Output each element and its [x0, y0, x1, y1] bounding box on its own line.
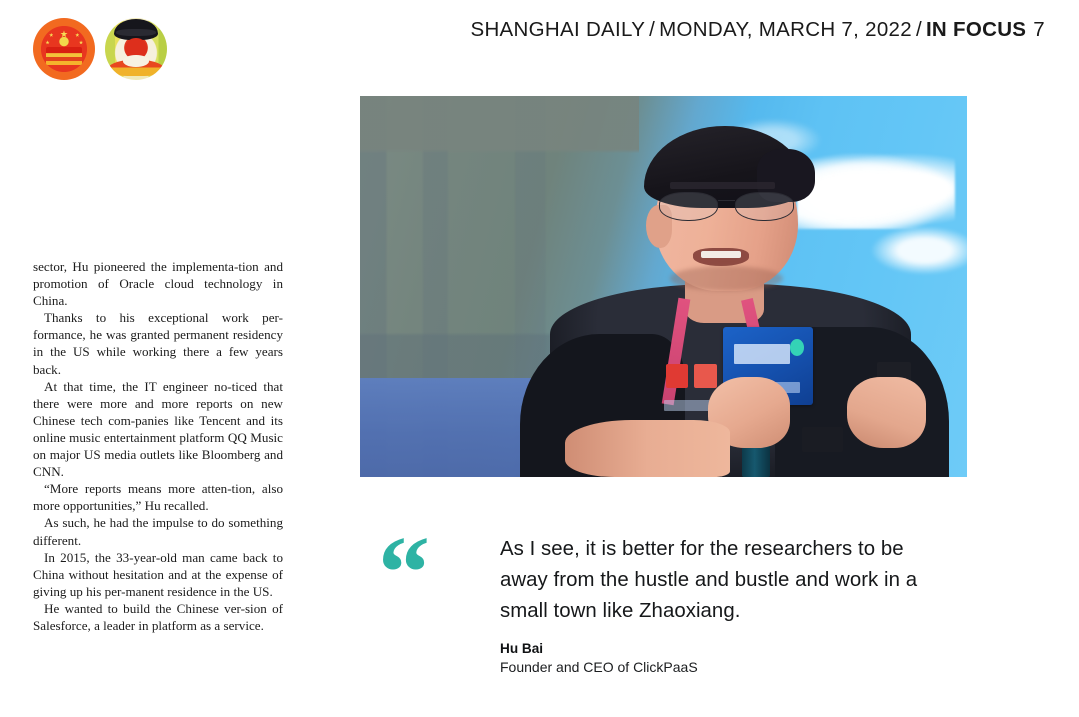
- pull-quote: “ As I see, it is better for the researc…: [378, 534, 938, 677]
- pull-quote-attribution: Hu Bai Founder and CEO of ClickPaaS: [500, 640, 938, 677]
- article-paragraph: As such, he had the impulse to do someth…: [33, 514, 283, 548]
- speaker-hand-right: [847, 377, 926, 449]
- masthead-page-number: 7: [1033, 18, 1045, 41]
- speaker-chin-shadow: [670, 266, 783, 291]
- article-paragraph: At that time, the IT engineer no-ticed t…: [33, 378, 283, 481]
- masthead-separator-2: /: [916, 18, 922, 41]
- speaker-arm-left: [565, 420, 731, 477]
- speaker-glasses: [659, 192, 794, 221]
- quote-mark-icon: “: [378, 536, 430, 610]
- masthead-emblems: [33, 14, 183, 84]
- speaker-wristwatch: [802, 427, 843, 452]
- speaker-eyebrow: [670, 182, 775, 190]
- article-photo: [360, 96, 967, 477]
- photo-speaker: [542, 119, 918, 477]
- masthead-section: IN FOCUS: [926, 18, 1026, 41]
- china-national-emblem-icon: [33, 18, 95, 80]
- pull-quote-attribution-name: Hu Bai: [500, 640, 938, 658]
- masthead-publication: SHANGHAI DAILY: [470, 18, 645, 41]
- pull-quote-text: As I see, it is better for the researche…: [500, 534, 938, 627]
- article-paragraph: “More reports means more atten-tion, als…: [33, 480, 283, 514]
- article-paragraph: He wanted to build the Chinese ver-sion …: [33, 600, 283, 634]
- pull-quote-body: As I see, it is better for the researche…: [500, 534, 938, 677]
- article-paragraph: In 2015, the 33-year-old man came back t…: [33, 549, 283, 600]
- article-text-column: sector, Hu pioneered the implementa-tion…: [33, 258, 283, 717]
- article-paragraph: sector, Hu pioneered the implementa-tion…: [33, 258, 283, 309]
- masthead-separator-1: /: [649, 18, 655, 41]
- cppcc-emblem-icon: [105, 18, 167, 80]
- pull-quote-attribution-role: Founder and CEO of ClickPaaS: [500, 658, 938, 677]
- article-paragraph: Thanks to his exceptional work per-forma…: [33, 309, 283, 377]
- masthead-date: MONDAY, MARCH 7, 2022: [659, 18, 912, 41]
- speaker-mouth: [693, 248, 749, 266]
- masthead-headline: SHANGHAI DAILY/MONDAY, MARCH 7, 2022/IN …: [470, 18, 1045, 42]
